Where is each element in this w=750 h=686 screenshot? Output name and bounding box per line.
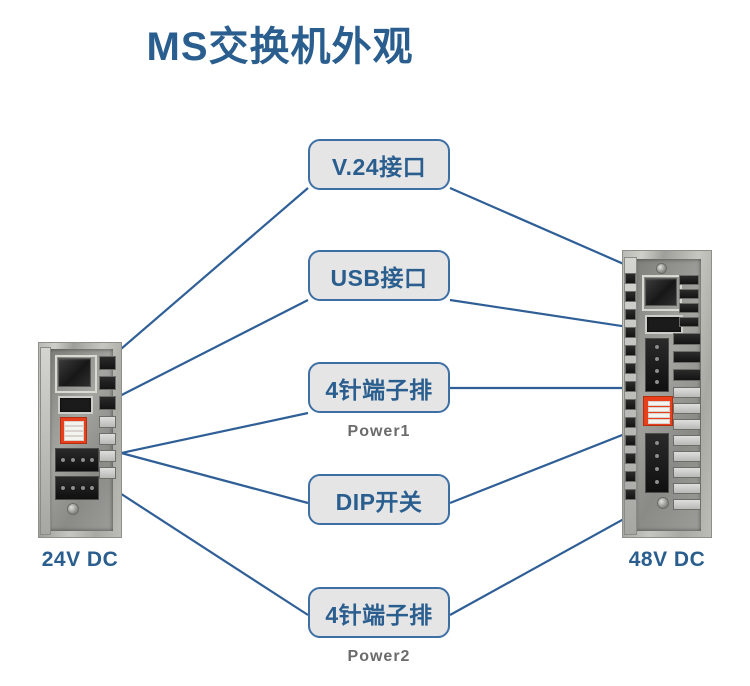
- callout-power2-label: 4针端子排: [325, 596, 432, 630]
- callout-usb[interactable]: USB接口: [308, 250, 450, 301]
- device-caption-24v: 24V DC: [20, 548, 140, 572]
- dip-sw-2: [648, 407, 670, 412]
- dip-sw-4: [648, 419, 670, 424]
- device-right-v24-connector: [645, 278, 677, 306]
- device-right-screw-bottom: [657, 497, 669, 509]
- callout-dip-label: DIP开关: [336, 483, 423, 517]
- dip-sw-3: [648, 413, 670, 418]
- device-left-dip-switch: [60, 417, 87, 444]
- line-right-dip: [450, 428, 640, 503]
- device-right-terminal-power1: [645, 338, 669, 392]
- device-image-48v: [622, 250, 712, 538]
- callout-usb-label: USB接口: [330, 259, 427, 293]
- device-right-screw-top: [656, 263, 667, 274]
- line-left-power2: [112, 488, 308, 615]
- diagram-canvas: MS交换机外观 V.24接口 USB接口 4针端子排 Power1 DIP开关 …: [0, 0, 750, 686]
- device-left-usb-port: [58, 396, 93, 414]
- caption-power1: Power1: [308, 423, 450, 441]
- callout-power1-label: 4针端子排: [325, 371, 432, 405]
- device-left-v24-connector: [58, 358, 91, 387]
- callout-v24-label: V.24接口: [332, 148, 426, 182]
- device-right-usb-port: [645, 315, 683, 334]
- dip-sw-1: [648, 401, 670, 406]
- line-right-v24: [450, 188, 642, 272]
- line-right-usb: [450, 300, 648, 330]
- callout-power2[interactable]: 4针端子排: [308, 587, 450, 638]
- page-title: MS交换机外观: [0, 14, 560, 72]
- caption-power2: Power2: [308, 648, 450, 666]
- line-left-power1: [112, 413, 308, 455]
- device-right-terminal-power2: [645, 433, 669, 493]
- line-left-v24: [114, 188, 308, 355]
- callout-power1[interactable]: 4针端子排: [308, 362, 450, 413]
- line-left-usb: [104, 300, 308, 404]
- device-right-dip-switch: [643, 396, 673, 426]
- device-left-terminal-power1: [55, 448, 99, 472]
- device-left-screw: [67, 503, 79, 515]
- callout-dip[interactable]: DIP开关: [308, 474, 450, 525]
- device-caption-48v: 48V DC: [607, 548, 727, 572]
- dip-sw-4: [64, 436, 84, 441]
- device-image-24v: [38, 342, 122, 538]
- device-left-terminal-power2: [55, 476, 99, 500]
- line-left-dip: [110, 450, 308, 503]
- callout-v24[interactable]: V.24接口: [308, 139, 450, 190]
- device-left-rail: [40, 347, 51, 535]
